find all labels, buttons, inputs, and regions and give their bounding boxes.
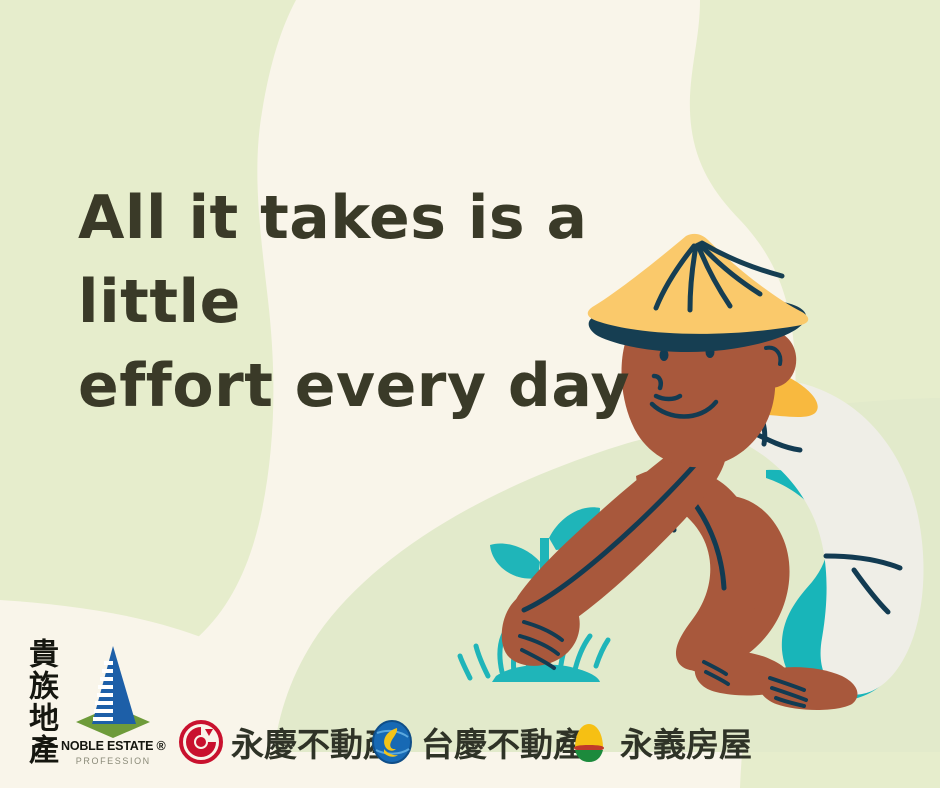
logo-yungyi[interactable]: 永義房屋 [565, 718, 752, 766]
red-spiral-circle-icon [178, 719, 224, 765]
logo-noble-estate[interactable]: 貴族地產 NOBLE ESTATE ® [24, 638, 166, 770]
poster-canvas: All it takes is a little effort every da… [0, 0, 940, 788]
logo-yungyi-cjk: 永義房屋 [620, 718, 752, 766]
blue-pyramid-building-icon [72, 644, 154, 738]
logo-noble-estate-english: NOBLE ESTATE ® [61, 739, 166, 753]
logo-taiching-cjk: 台慶不動產 [421, 718, 586, 766]
logo-noble-estate-cjk: 貴族地產 [24, 638, 57, 770]
orange-sun-green-hill-icon [565, 718, 613, 766]
logo-yungching[interactable]: 永慶不動產 [178, 718, 396, 766]
partner-logo-bar: 貴族地產 NOBLE ESTATE ® [0, 630, 940, 788]
blue-globe-swoosh-icon [370, 719, 414, 765]
plant-leaf-left [490, 544, 540, 579]
page-title: All it takes is a little effort every da… [78, 176, 738, 428]
logo-taiching[interactable]: 台慶不動產 [370, 718, 586, 766]
logo-noble-estate-tagline: PROFESSION [76, 756, 151, 766]
